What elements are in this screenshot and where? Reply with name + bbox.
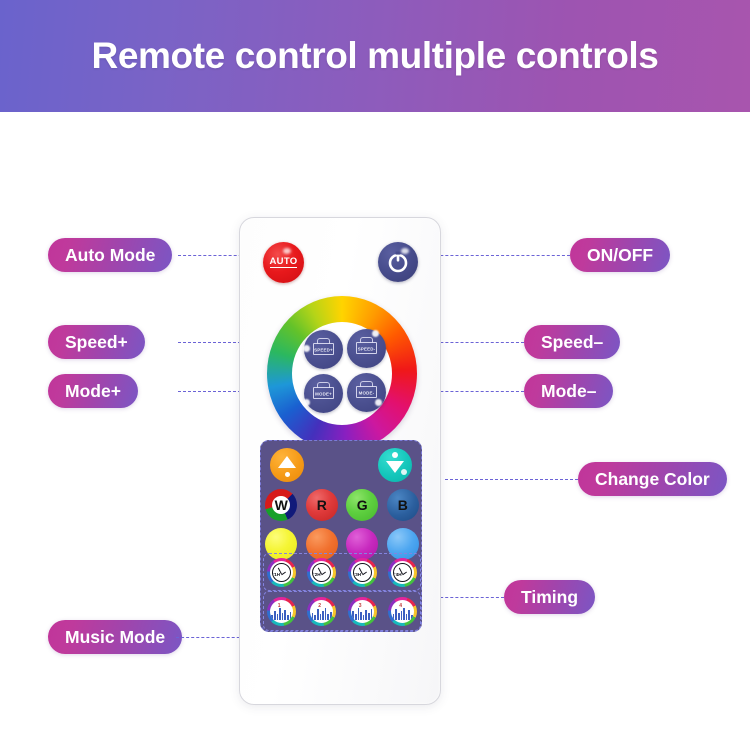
highlight-glint-icon (401, 469, 407, 475)
callout-mode-minus[interactable]: Mode– (524, 374, 613, 408)
timer-button-inner: 4H ← (391, 561, 414, 584)
brightness-dot-icon (392, 452, 398, 458)
timer-button-inner: 3H ← (351, 561, 374, 584)
color-button-red[interactable]: R (306, 489, 338, 521)
brightness-up-button[interactable] (270, 448, 304, 482)
wheel-button-mode-plus[interactable]: MODE+ (304, 374, 343, 413)
equalizer-icon: 1 (271, 604, 292, 620)
connector-timing (430, 597, 504, 598)
wheel-button-mode-minus-label: MODE- (347, 390, 386, 395)
callout-timing-label: Timing (521, 587, 578, 608)
callout-mode-plus[interactable]: Mode+ (48, 374, 138, 408)
highlight-glint-icon (303, 399, 310, 406)
wheel-button-speed-plus[interactable]: SPEED+ (304, 330, 343, 369)
callout-on-off-label: ON/OFF (587, 245, 653, 266)
wheel-button-mode-minus[interactable]: MODE- (347, 373, 386, 412)
color-wheel[interactable]: SPEED+ SPEED- MODE+ MODE- (267, 296, 417, 451)
diagram-stage: Auto Mode Speed+ Mode+ Music Mode ON/OFF… (0, 112, 750, 750)
wheel-button-speed-minus-label: SPEED- (347, 346, 386, 351)
color-button-blue-label: B (398, 497, 408, 513)
callout-speed-plus[interactable]: Speed+ (48, 325, 145, 359)
timer-button-3h[interactable]: 3H ← (348, 558, 377, 587)
callout-on-off[interactable]: ON/OFF (570, 238, 670, 272)
equalizer-icon: 2 (311, 604, 332, 620)
callout-music-mode-label: Music Mode (65, 627, 165, 648)
clock-hand-minute-icon (403, 572, 408, 576)
music-button-row: 1 2 (261, 597, 423, 626)
callout-speed-plus-label: Speed+ (65, 332, 128, 353)
music-button-inner: 3 (351, 600, 374, 623)
brightness-dot-icon (285, 472, 290, 477)
callout-speed-minus[interactable]: Speed– (524, 325, 620, 359)
page-title: Remote control multiple controls (92, 35, 659, 77)
callout-music-mode[interactable]: Music Mode (48, 620, 182, 654)
remote-control-body: AUTO SPEED+ SPEED- (239, 217, 441, 705)
timer-button-2h[interactable]: 2H ← (307, 558, 336, 587)
timer-button-inner: 2H ← (310, 561, 333, 584)
timer-button-row: 1H ← 2H ← (261, 558, 423, 587)
music-button-inner: 2 (310, 600, 333, 623)
clock-icon: 4H ← (393, 563, 412, 582)
arrow-left-icon: ← (392, 570, 398, 576)
brightness-up-icon (278, 456, 296, 468)
clock-icon: 2H ← (312, 563, 331, 582)
highlight-glint-icon (303, 345, 310, 352)
equalizer-icon: 3 (352, 604, 373, 620)
color-button-red-label: R (317, 497, 327, 513)
timer-button-inner: 1H ← (270, 561, 293, 584)
highlight-glint-icon (372, 330, 379, 337)
music-mode-button-4-label: 4 (399, 603, 402, 609)
timer-button-1h[interactable]: 1H ← (267, 558, 296, 587)
callout-timing[interactable]: Timing (504, 580, 595, 614)
callout-change-color-label: Change Color (595, 469, 710, 490)
callout-auto-mode-label: Auto Mode (65, 245, 155, 266)
clock-icon: 1H ← (272, 563, 291, 582)
auto-mode-button[interactable]: AUTO (263, 242, 304, 283)
keypad-panel: W R G B (260, 440, 422, 632)
music-button-inner: 4 (391, 600, 414, 623)
timer-button-4h[interactable]: 4H ← (388, 558, 417, 587)
highlight-glint-icon (375, 399, 382, 406)
highlight-glint-icon (401, 248, 409, 254)
color-button-blue[interactable]: B (387, 489, 419, 521)
music-mode-button-3[interactable]: 3 (348, 597, 377, 626)
arrow-left-icon: ← (352, 570, 358, 576)
equalizer-icon: 4 (392, 604, 413, 620)
clock-icon: 3H ← (353, 563, 372, 582)
brightness-down-button[interactable] (378, 448, 412, 482)
callout-mode-minus-label: Mode– (541, 381, 596, 402)
color-button-green[interactable]: G (346, 489, 378, 521)
arrow-left-icon: ← (271, 570, 277, 576)
callout-auto-mode[interactable]: Auto Mode (48, 238, 172, 272)
white-badge-icon: W (272, 496, 290, 514)
connector-change-color (445, 479, 578, 480)
rgbw-button-row: W R G B (261, 489, 423, 521)
clock-hand-minute-icon (322, 572, 327, 576)
highlight-glint-icon (283, 248, 291, 254)
color-button-white[interactable]: W (265, 489, 297, 521)
callout-change-color[interactable]: Change Color (578, 462, 727, 496)
auto-mode-button-label: AUTO (270, 257, 298, 268)
music-mode-button-3-label: 3 (359, 603, 362, 609)
wheel-button-speed-minus[interactable]: SPEED- (347, 329, 386, 368)
music-mode-button-2-label: 2 (318, 603, 321, 609)
music-button-inner: 1 (270, 600, 293, 623)
connector-on-off (420, 255, 570, 256)
music-mode-button-1-label: 1 (278, 603, 281, 609)
callout-mode-plus-label: Mode+ (65, 381, 121, 402)
callout-speed-minus-label: Speed– (541, 332, 603, 353)
power-button[interactable] (378, 242, 418, 282)
arrow-left-icon: ← (311, 570, 317, 576)
music-mode-button-4[interactable]: 4 (388, 597, 417, 626)
wheel-button-mode-plus-label: MODE+ (304, 391, 343, 396)
color-button-white-label: W (275, 497, 288, 513)
color-button-green-label: G (357, 497, 368, 513)
music-mode-button-1[interactable]: 1 (267, 597, 296, 626)
music-mode-button-2[interactable]: 2 (307, 597, 336, 626)
page-header: Remote control multiple controls (0, 0, 750, 112)
